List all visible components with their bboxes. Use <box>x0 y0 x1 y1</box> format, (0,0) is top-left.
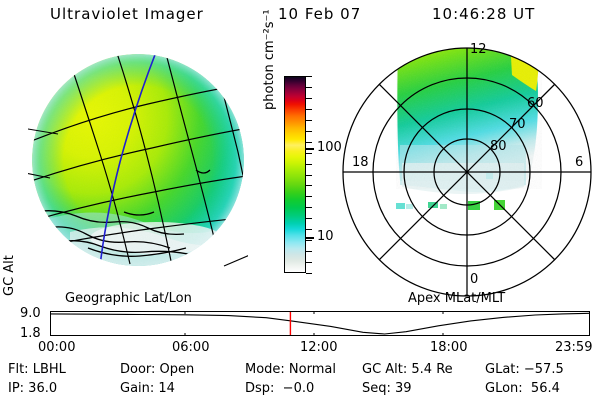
observation-date: 10 Feb 07 <box>278 5 361 23</box>
observation-time: 10:46:28 UT <box>432 5 535 23</box>
status-field: GLat: −57.5 <box>485 362 564 377</box>
globe-svg <box>28 52 248 272</box>
colorbar-minor-tick <box>306 120 312 121</box>
intensity-colorbar[interactable] <box>284 76 306 273</box>
colorbar-major-tick <box>306 237 314 239</box>
colorbar-minor-tick <box>306 218 312 219</box>
latitude-label: 60 <box>527 96 544 111</box>
latitude-label: 70 <box>509 117 526 132</box>
noise-texture <box>32 54 244 266</box>
colorbar-tick-label: 10 <box>317 229 334 244</box>
colorbar-minor-tick <box>306 87 312 88</box>
colorbar-minor-tick <box>306 262 312 263</box>
colorbar-minor-tick <box>306 273 312 274</box>
time-tick-label: 00:00 <box>38 340 75 355</box>
instrument-title: Ultraviolet Imager <box>50 5 204 23</box>
altitude-time-plot[interactable] <box>50 311 590 336</box>
colorbar-minor-tick <box>306 98 312 99</box>
time-tick-label: 18:00 <box>430 340 467 355</box>
colorbar-axis-label: photon cm⁻²s⁻¹ <box>262 88 277 110</box>
colorbar-minor-tick <box>306 131 312 132</box>
mlt-label: 6 <box>575 155 583 170</box>
uvi-display-window: Ultraviolet Imager 10 Feb 07 10:46:28 UT <box>0 0 600 400</box>
colorbar-minor-tick <box>306 229 312 230</box>
alt-axis-min: 1.8 <box>20 326 41 341</box>
status-field: GC Alt: 5.4 Re <box>362 362 453 377</box>
caption-apex: Apex MLat/MLT <box>408 291 505 306</box>
altitude-curve <box>51 313 589 334</box>
colorbar-minor-tick <box>306 142 312 143</box>
status-readout: Flt: LBHLDoor: OpenMode: NormalGC Alt: 5… <box>0 362 600 400</box>
header-bar: Ultraviolet Imager 10 Feb 07 10:46:28 UT <box>0 5 600 29</box>
status-field: Dsp: −0.0 <box>245 381 314 396</box>
colorbar-minor-tick <box>306 153 312 154</box>
status-field: Gain: 14 <box>120 381 175 396</box>
status-field: Seq: 39 <box>362 381 412 396</box>
status-field: Door: Open <box>120 362 194 377</box>
time-tick-label: 23:59 <box>555 340 592 355</box>
geographic-globe-image[interactable] <box>28 52 248 272</box>
colorbar-gradient <box>285 77 305 272</box>
apex-polar-plot[interactable] <box>340 45 595 300</box>
colorbar-minor-tick <box>306 76 312 77</box>
colorbar-minor-tick <box>306 251 312 252</box>
status-row-1: Flt: LBHLDoor: OpenMode: NormalGC Alt: 5… <box>0 362 600 381</box>
globe-disc-content <box>28 52 248 268</box>
status-field: Mode: Normal <box>245 362 336 377</box>
polar-svg <box>340 45 595 300</box>
time-tick-label: 06:00 <box>172 340 209 355</box>
status-row-2: IP: 36.0Gain: 14Dsp: −0.0Seq: 39GLon: 56… <box>0 381 600 400</box>
mlt-label: 12 <box>470 42 487 57</box>
status-field: Flt: LBHL <box>8 362 66 377</box>
colorbar-minor-tick <box>306 207 312 208</box>
altitude-curve-svg <box>51 312 589 335</box>
mlt-label: 18 <box>352 155 369 170</box>
alt-axis-max: 9.0 <box>20 306 41 321</box>
colorbar-minor-tick <box>306 240 312 241</box>
colorbar-minor-tick <box>306 109 312 110</box>
alt-axis-label: GC Alt <box>2 255 17 296</box>
colorbar-minor-tick <box>306 164 312 165</box>
colorbar-minor-tick <box>306 196 312 197</box>
time-tick-label: 12:00 <box>300 340 337 355</box>
colorbar-major-tick <box>306 148 314 150</box>
status-field: GLon: 56.4 <box>485 381 560 396</box>
mlt-label: 0 <box>470 272 478 287</box>
colorbar-minor-tick <box>306 185 312 186</box>
latitude-label: 80 <box>490 139 507 154</box>
colorbar-minor-tick <box>306 175 312 176</box>
colorbar-tick-label: 100 <box>317 140 342 155</box>
status-field: IP: 36.0 <box>8 381 57 396</box>
caption-geographic: Geographic Lat/Lon <box>65 291 192 306</box>
polar-mlt-spokes <box>343 48 591 296</box>
